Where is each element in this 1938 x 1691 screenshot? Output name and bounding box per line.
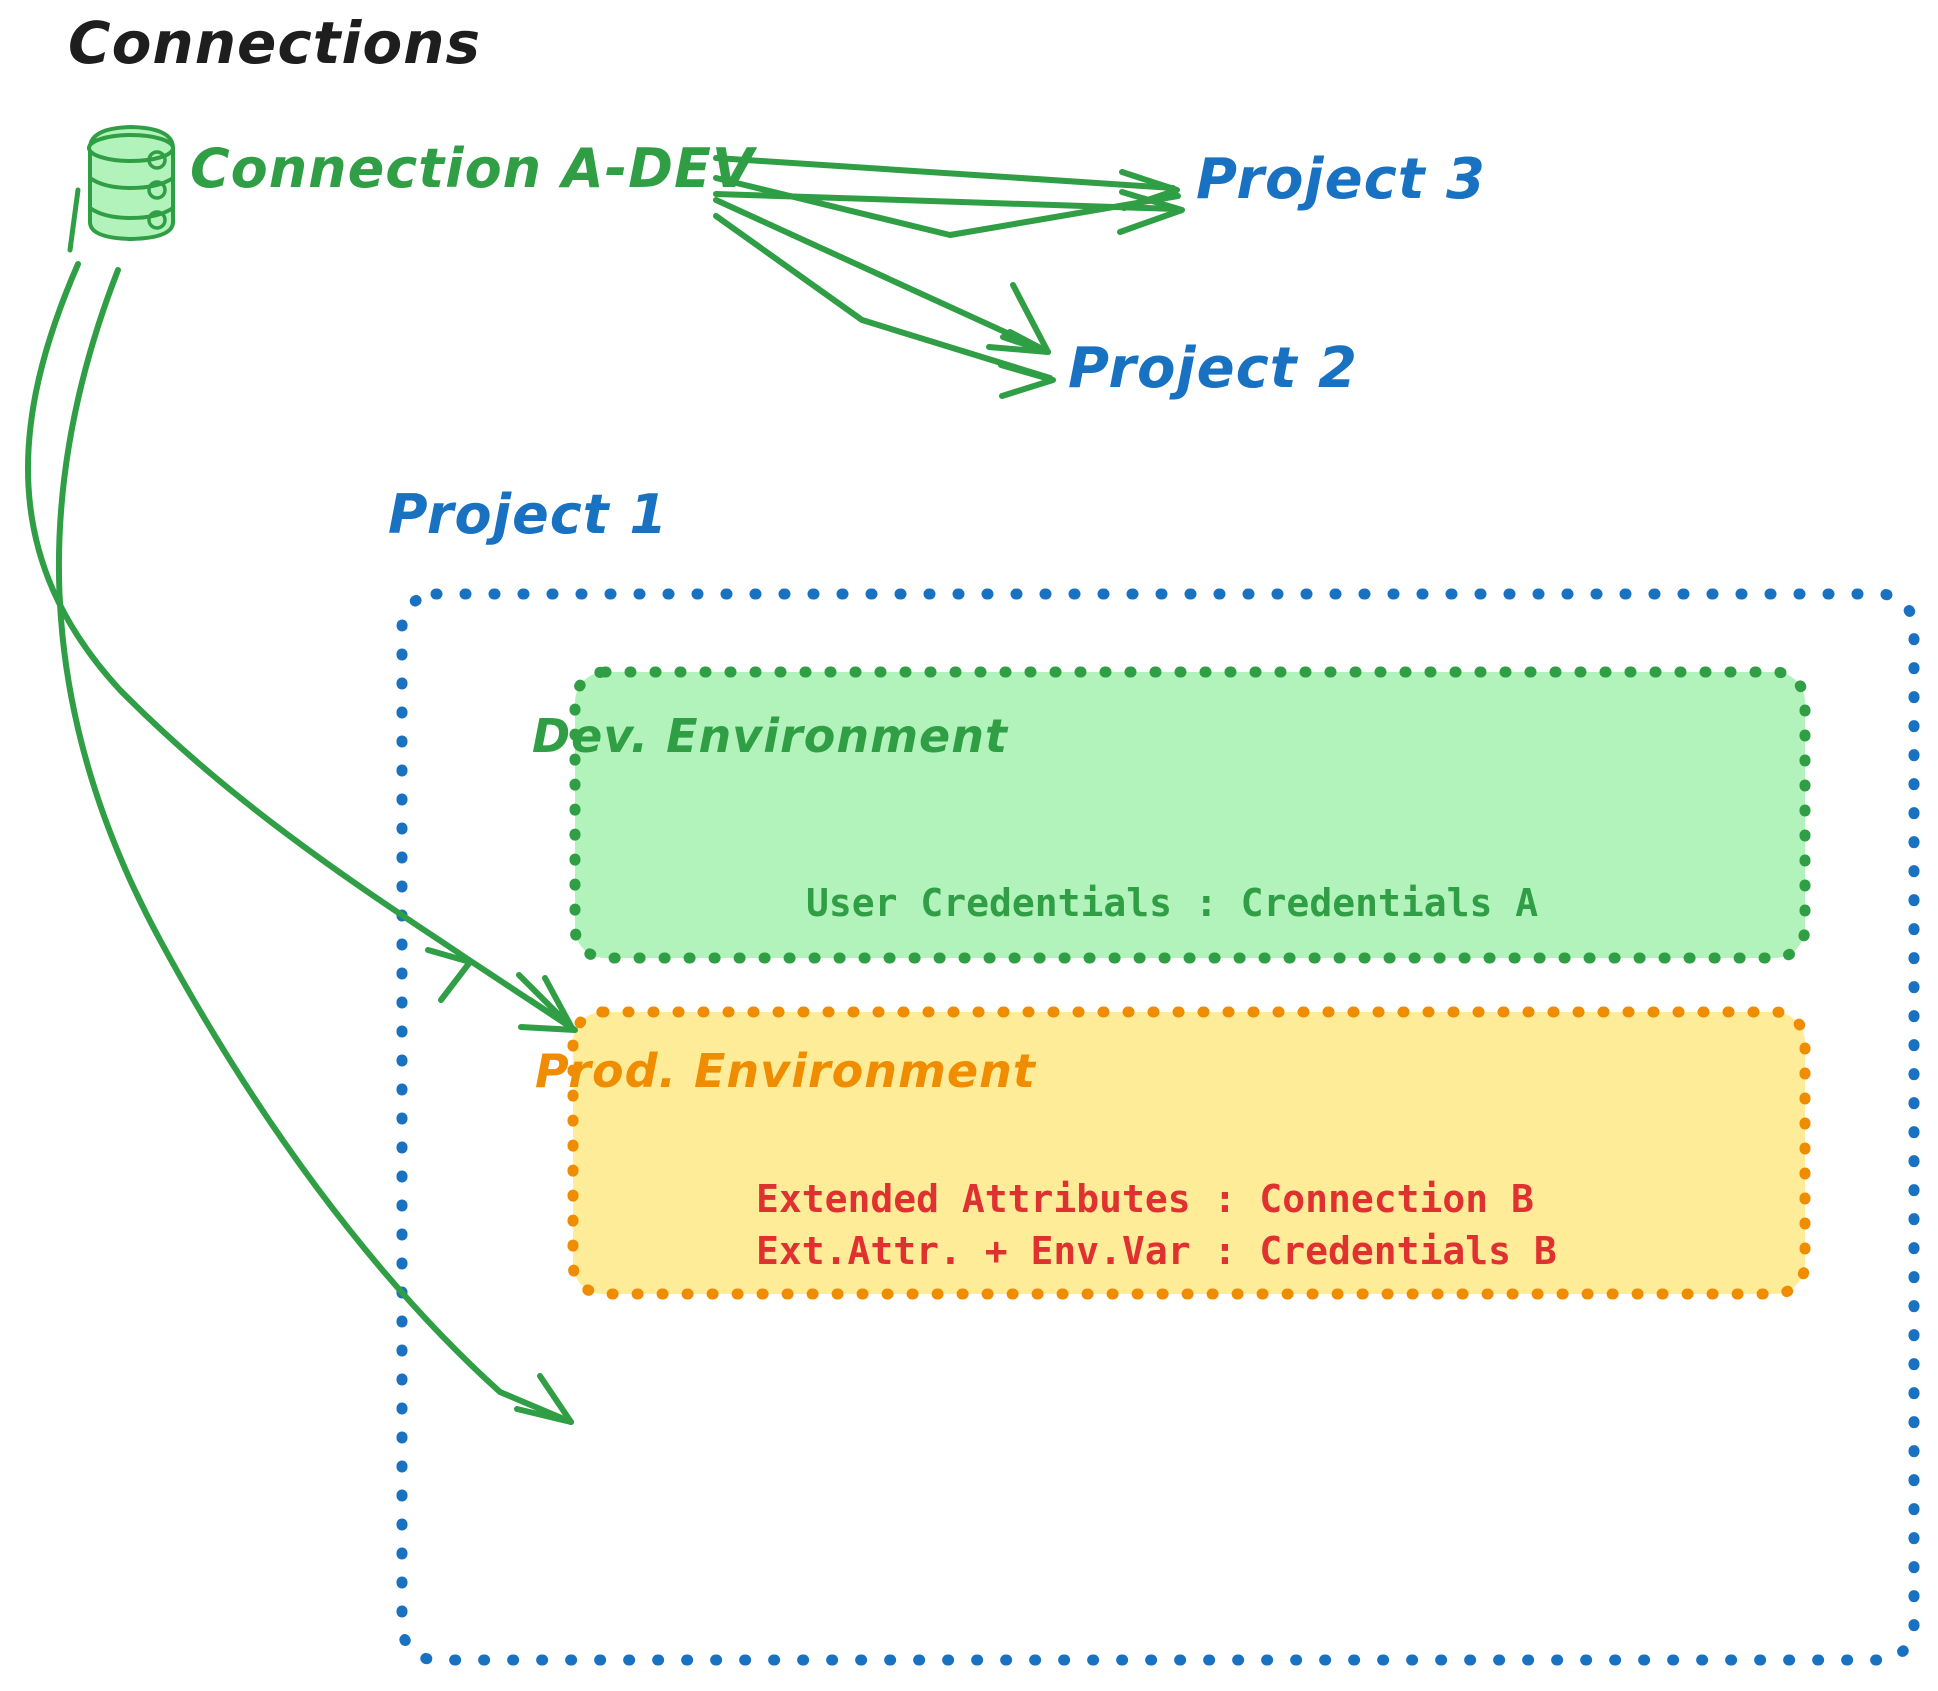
database-cylinder-icon <box>70 127 173 250</box>
prod-environment-attributes-line-2: Ext.Attr. + Env.Var : Credentials B <box>756 1232 1557 1270</box>
arrow-conn-to-dev-environment <box>28 264 575 1030</box>
dev-environment-credentials-line: User Credentials : Credentials A <box>806 884 1538 922</box>
project-1-label: Project 1 <box>388 488 668 542</box>
diagram-canvas <box>0 0 1938 1691</box>
prod-environment-title: Prod. Environment <box>535 1048 1036 1094</box>
connection-a-dev-label: Connection A-DEV <box>190 142 755 196</box>
arrow-conn-to-project2-b <box>716 216 1053 396</box>
project-2-label: Project 2 <box>1068 341 1358 397</box>
arrow-conn-to-prod-environment <box>59 270 571 1422</box>
project-3-label: Project 3 <box>1196 152 1486 208</box>
dev-environment-title: Dev. Environment <box>532 713 1008 759</box>
prod-environment-attributes-line-1: Extended Attributes : Connection B <box>756 1180 1534 1218</box>
page-title: Connections <box>68 14 481 72</box>
